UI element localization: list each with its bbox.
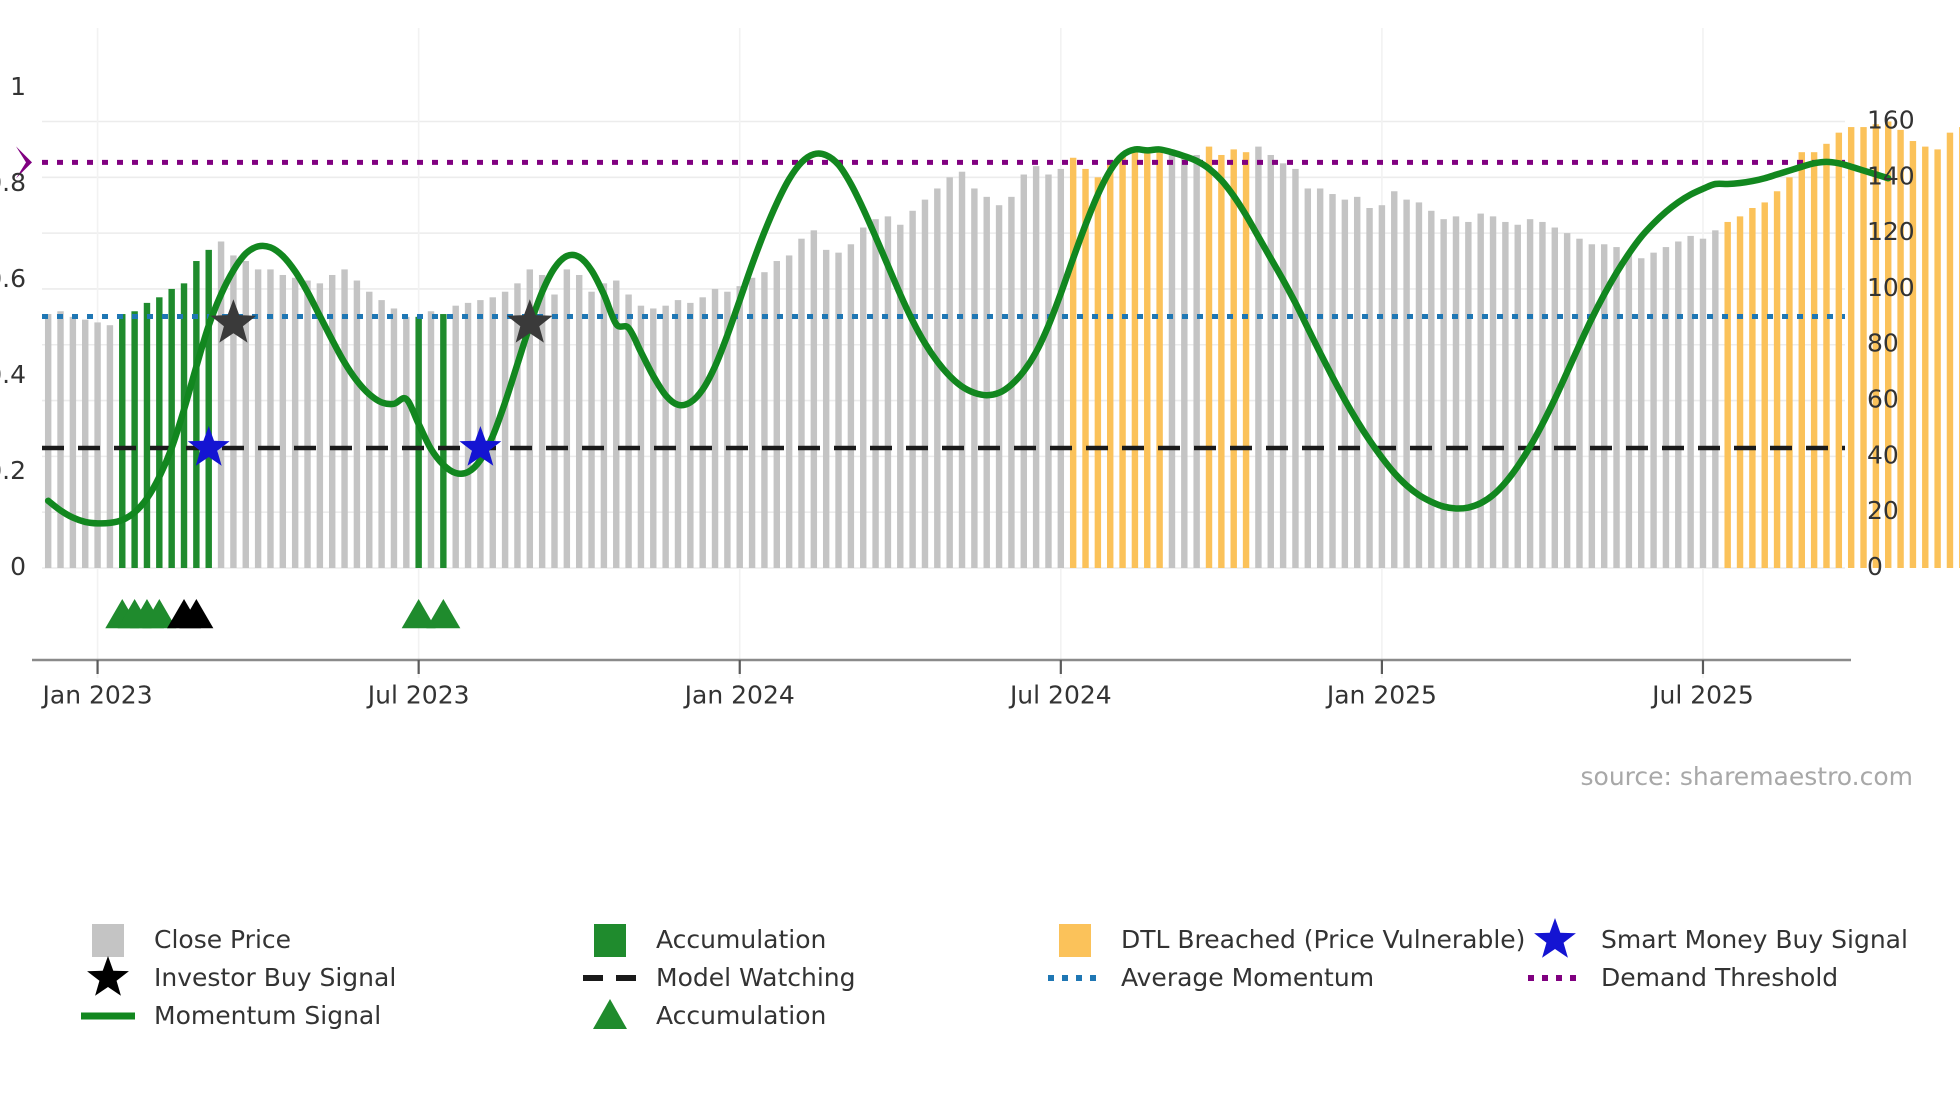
close-price-bar bbox=[131, 311, 137, 568]
legend-item-label: Demand Threshold bbox=[1601, 963, 1838, 992]
close-price-bar bbox=[984, 197, 990, 568]
close-price-bar bbox=[82, 320, 88, 568]
close-price-bar bbox=[1119, 155, 1125, 568]
close-price-bar bbox=[588, 292, 594, 568]
legend-swatch-square bbox=[594, 924, 626, 957]
close-price-bar bbox=[1922, 147, 1928, 568]
close-price-bar bbox=[959, 172, 965, 568]
close-price-bar bbox=[1663, 247, 1669, 568]
close-price-bar bbox=[1095, 177, 1101, 568]
close-price-bar bbox=[1749, 208, 1755, 568]
y-axis-right-tick-label: 20 bbox=[1867, 496, 1899, 525]
close-price-bar bbox=[1268, 155, 1274, 568]
close-price-bar bbox=[1811, 152, 1817, 568]
close-price-bar bbox=[366, 292, 372, 568]
close-price-bar bbox=[1305, 188, 1311, 568]
close-price-bar bbox=[193, 261, 199, 568]
source-watermark: source: sharemaestro.com bbox=[1581, 762, 1914, 791]
close-price-bar bbox=[1687, 236, 1693, 568]
close-price-bar bbox=[675, 300, 681, 568]
close-price-bar bbox=[1737, 216, 1743, 568]
close-price-bar bbox=[662, 306, 668, 568]
close-price-bar bbox=[1564, 233, 1570, 568]
close-price-bar bbox=[860, 228, 866, 568]
x-axis-tick-label: Jan 2024 bbox=[683, 680, 795, 709]
x-axis-tick-label: Jul 2023 bbox=[366, 680, 470, 709]
close-price-bar bbox=[1255, 147, 1261, 568]
y-axis-right-tick-label: 40 bbox=[1867, 440, 1899, 469]
legend-item[interactable]: Demand Threshold bbox=[1528, 963, 1838, 992]
legend-triangle-icon bbox=[593, 999, 627, 1029]
close-price-bar bbox=[1626, 253, 1632, 568]
close-price-bar bbox=[1193, 155, 1199, 568]
close-price-bar bbox=[168, 289, 174, 568]
legend-item-label: DTL Breached (Price Vulnerable) bbox=[1121, 925, 1525, 954]
x-axis-tick-label: Jan 2025 bbox=[1325, 680, 1437, 709]
y-axis-left-tick-label: 0.6 bbox=[0, 264, 26, 293]
close-price-bar bbox=[1762, 202, 1768, 568]
legend-star-icon bbox=[1534, 918, 1576, 958]
close-price-bar bbox=[1613, 247, 1619, 568]
reference-lines bbox=[16, 146, 1845, 448]
close-price-bar bbox=[1502, 222, 1508, 568]
close-price-bar bbox=[1416, 202, 1422, 568]
legend-item-label: Model Watching bbox=[656, 963, 856, 992]
close-price-bar bbox=[403, 317, 409, 568]
close-price-bar bbox=[1230, 149, 1236, 568]
close-price-bar bbox=[1675, 241, 1681, 568]
close-price-bar bbox=[1848, 127, 1854, 568]
close-price-bar bbox=[1860, 127, 1866, 568]
legend-item-label: Accumulation bbox=[656, 925, 826, 954]
legend-item[interactable]: Accumulation bbox=[594, 924, 826, 957]
close-price-bar bbox=[909, 211, 915, 568]
legend-item-label: Momentum Signal bbox=[154, 1001, 381, 1030]
close-price-bar bbox=[1934, 149, 1940, 568]
legend-item-label: Accumulation bbox=[656, 1001, 826, 1030]
legend-star-icon bbox=[87, 956, 129, 996]
close-price-bar bbox=[687, 303, 693, 568]
close-price-bar bbox=[1539, 222, 1545, 568]
chart-legend: Close PriceAccumulationDTL Breached (Pri… bbox=[81, 918, 1908, 1030]
close-price-bar bbox=[699, 297, 705, 568]
close-price-bar bbox=[1058, 169, 1064, 568]
close-price-bar bbox=[1218, 155, 1224, 568]
y-axis-left-tick-label: 0 bbox=[10, 552, 26, 581]
close-price-bar bbox=[1366, 208, 1372, 568]
close-price-bar bbox=[1786, 177, 1792, 568]
close-price-bar bbox=[650, 308, 656, 568]
close-price-bar bbox=[1823, 144, 1829, 568]
close-price-bar bbox=[1379, 205, 1385, 568]
close-price-bar bbox=[502, 292, 508, 568]
legend-item[interactable]: Smart Money Buy Signal bbox=[1534, 918, 1908, 958]
y-axis-right-tick-label: 0 bbox=[1867, 552, 1883, 581]
close-price-bar bbox=[774, 261, 780, 568]
close-price-bar bbox=[1515, 225, 1521, 568]
close-price-bar bbox=[465, 303, 471, 568]
close-price-bar bbox=[1317, 188, 1323, 568]
close-price-bar bbox=[996, 205, 1002, 568]
close-price-bar bbox=[1033, 166, 1039, 568]
close-price-bar bbox=[1156, 152, 1162, 568]
close-price-bar bbox=[811, 230, 817, 568]
close-price-bar bbox=[1181, 158, 1187, 568]
close-price-bar bbox=[749, 278, 755, 568]
close-price-bar bbox=[144, 303, 150, 568]
legend-item[interactable]: DTL Breached (Price Vulnerable) bbox=[1059, 924, 1525, 957]
close-price-bar bbox=[897, 225, 903, 568]
accumulation-triangle-icon bbox=[426, 599, 460, 628]
legend-item[interactable]: Momentum Signal bbox=[81, 1001, 381, 1030]
close-price-bar bbox=[1589, 244, 1595, 568]
close-price-bar bbox=[243, 261, 249, 568]
y-axis-right-tick-label: 60 bbox=[1867, 385, 1899, 414]
close-price-bar bbox=[1638, 258, 1644, 568]
close-price-bar bbox=[1107, 163, 1113, 568]
close-price-bar bbox=[1403, 200, 1409, 568]
close-price-bar bbox=[848, 244, 854, 568]
x-axis-tick-label: Jul 2025 bbox=[1650, 680, 1754, 709]
y-axis-right-tick-label: 160 bbox=[1867, 105, 1915, 134]
momentum-signal-line bbox=[48, 149, 1888, 523]
close-price-bar bbox=[70, 317, 76, 568]
close-price-bar bbox=[712, 289, 718, 568]
y-axis-right-tick-label: 140 bbox=[1867, 161, 1915, 190]
chart-container: 00.20.40.60.81020406080100120140160Jan 2… bbox=[0, 0, 1960, 1102]
close-price-bar bbox=[94, 322, 100, 568]
close-price-bar bbox=[786, 255, 792, 568]
legend-item-label: Investor Buy Signal bbox=[154, 963, 396, 992]
close-price-bar bbox=[1910, 141, 1916, 568]
close-price-bar bbox=[1700, 239, 1706, 568]
close-price-bar bbox=[1169, 149, 1175, 568]
close-price-bar bbox=[292, 278, 298, 568]
close-price-bar bbox=[1947, 133, 1953, 568]
y-axis-right-tick-label: 120 bbox=[1867, 217, 1915, 246]
legend-swatch-square bbox=[1059, 924, 1091, 957]
close-price-bar bbox=[156, 297, 162, 568]
close-price-bar bbox=[601, 283, 607, 568]
close-price-bar bbox=[551, 295, 557, 568]
close-price-bar bbox=[107, 325, 113, 568]
legend-item-label: Close Price bbox=[154, 925, 291, 954]
close-price-bar bbox=[1836, 133, 1842, 568]
legend-item[interactable]: Average Momentum bbox=[1048, 963, 1374, 992]
close-price-bar bbox=[1144, 149, 1150, 568]
legend-item[interactable]: Accumulation bbox=[593, 999, 826, 1030]
close-price-bar bbox=[1070, 158, 1076, 568]
close-price-bar bbox=[1576, 239, 1582, 568]
close-price-bar bbox=[737, 286, 743, 568]
close-price-bar bbox=[1354, 197, 1360, 568]
y-axis-left-tick-label: 1 bbox=[10, 72, 26, 101]
legend-swatch-square bbox=[92, 924, 124, 957]
close-price-bar bbox=[1280, 163, 1286, 568]
legend-item[interactable]: Investor Buy Signal bbox=[87, 956, 396, 996]
close-price-bar bbox=[971, 188, 977, 568]
close-price-bar bbox=[1440, 219, 1446, 568]
financial-chart: 00.20.40.60.81020406080100120140160Jan 2… bbox=[0, 0, 1960, 1102]
close-price-bar bbox=[304, 281, 310, 568]
close-price-bar bbox=[378, 300, 384, 568]
legend-item-label: Average Momentum bbox=[1121, 963, 1374, 992]
close-price-bar bbox=[1391, 191, 1397, 568]
close-price-bar bbox=[1045, 175, 1051, 568]
close-price-bar bbox=[1724, 222, 1730, 568]
close-price-bar bbox=[45, 314, 51, 568]
close-price-bar bbox=[835, 253, 841, 568]
close-price-bar bbox=[934, 188, 940, 568]
legend-item[interactable]: Model Watching bbox=[583, 963, 856, 992]
close-price-bar bbox=[1292, 169, 1298, 568]
legend-item[interactable]: Close Price bbox=[92, 924, 291, 957]
close-price-bar bbox=[576, 275, 582, 568]
accumulation-triangles bbox=[105, 599, 460, 628]
close-price-bar bbox=[514, 283, 520, 568]
close-price-bar bbox=[1650, 253, 1656, 568]
close-price-bar bbox=[119, 314, 125, 568]
y-axis-right-tick-label: 80 bbox=[1867, 329, 1899, 358]
close-price-bar bbox=[1206, 147, 1212, 568]
y-axis-left-tick-label: 0.4 bbox=[0, 360, 26, 389]
close-price-bar bbox=[354, 281, 360, 568]
close-price-bar bbox=[1774, 191, 1780, 568]
close-price-bar bbox=[1490, 216, 1496, 568]
close-price-bar bbox=[1477, 214, 1483, 568]
close-price-bar bbox=[1799, 152, 1805, 568]
close-price-bar bbox=[391, 308, 397, 568]
close-price-bar bbox=[1712, 230, 1718, 568]
close-price-bar bbox=[1428, 211, 1434, 568]
y-axis-right-tick-label: 100 bbox=[1867, 273, 1915, 302]
close-price-bar bbox=[440, 314, 446, 568]
close-price-bar bbox=[1342, 200, 1348, 568]
x-axis-tick-label: Jan 2023 bbox=[41, 680, 153, 709]
x-axis-tick-label: Jul 2024 bbox=[1008, 680, 1112, 709]
momentum-signal-path bbox=[48, 149, 1888, 523]
close-price-bar bbox=[452, 306, 458, 568]
close-price-bar bbox=[1527, 219, 1533, 568]
close-price-bar bbox=[1465, 222, 1471, 568]
close-price-bars bbox=[45, 96, 1960, 568]
close-price-bar bbox=[57, 311, 63, 568]
close-price-bar bbox=[415, 317, 421, 568]
close-price-bar bbox=[206, 250, 212, 568]
close-price-bar bbox=[872, 219, 878, 568]
close-price-bar bbox=[823, 250, 829, 568]
close-price-bar bbox=[1453, 216, 1459, 568]
y-axis-left-tick-label: 0.8 bbox=[0, 168, 26, 197]
legend-item-label: Smart Money Buy Signal bbox=[1601, 925, 1908, 954]
close-price-bar bbox=[798, 239, 804, 568]
close-price-bar bbox=[922, 200, 928, 568]
y-axis-left-tick-label: 0.2 bbox=[0, 456, 26, 485]
close-price-bar bbox=[1132, 149, 1138, 568]
